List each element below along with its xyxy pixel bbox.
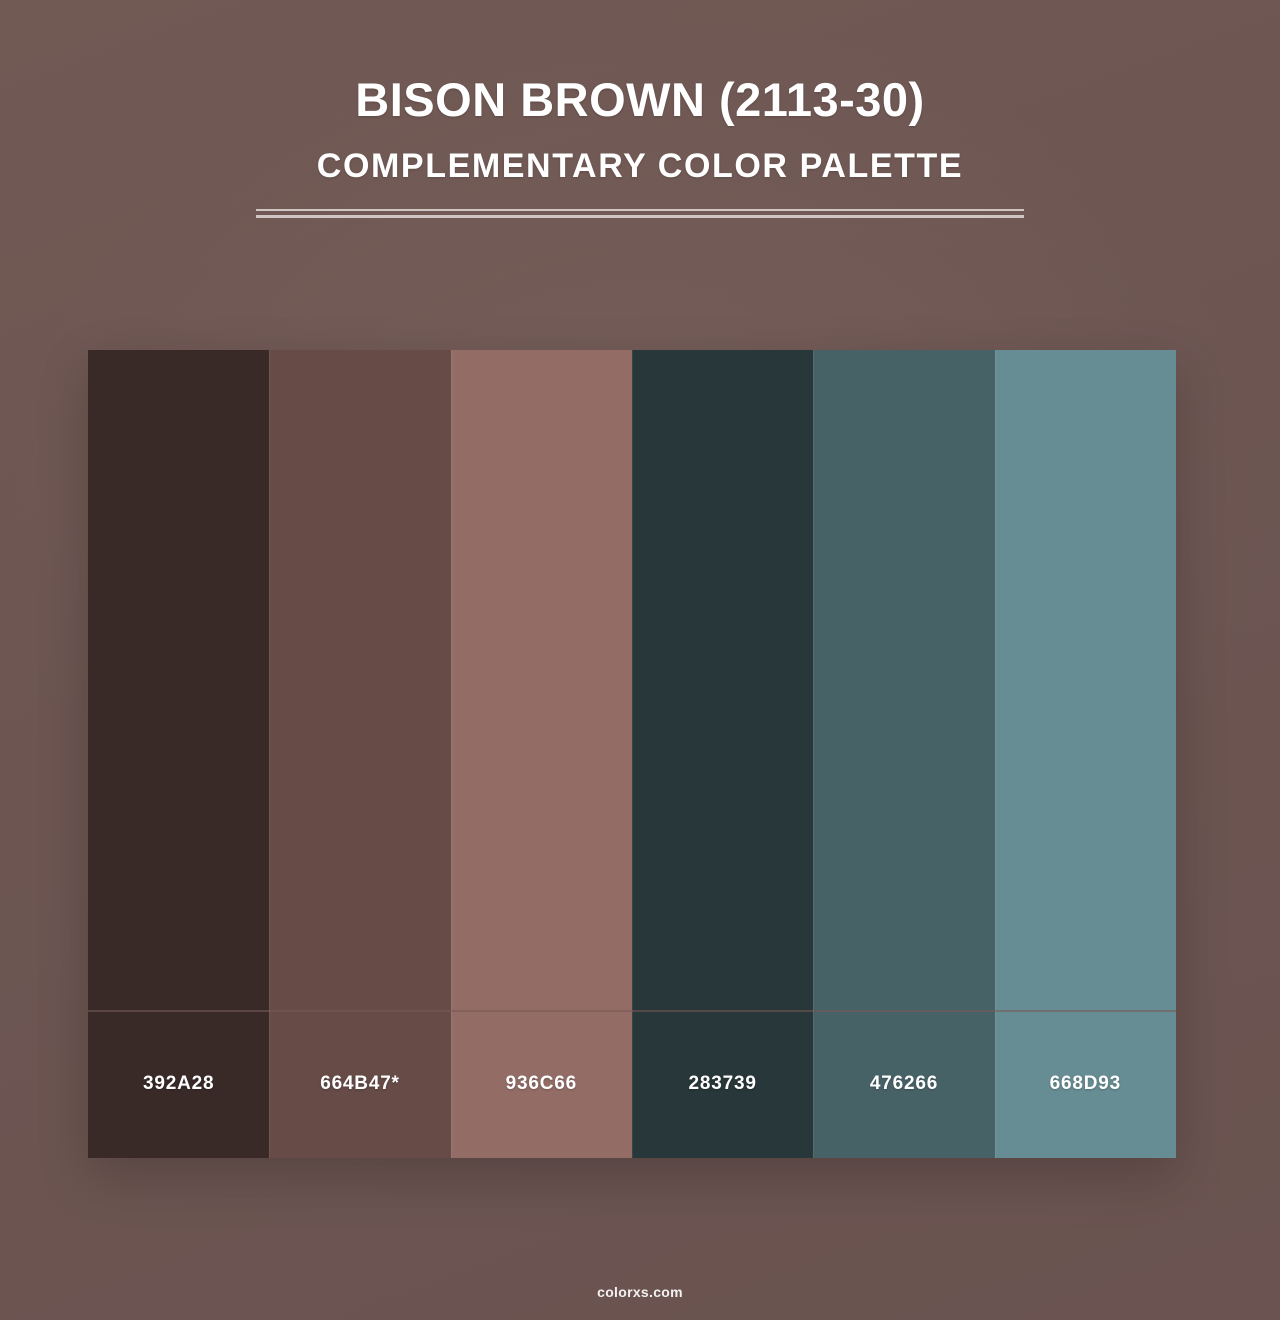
page-title: BISON BROWN (2113-30): [0, 74, 1280, 127]
color-swatch[interactable]: 476266: [813, 350, 994, 1158]
page-header: BISON BROWN (2113-30) COMPLEMENTARY COLO…: [0, 0, 1280, 218]
swatch-hex-label: 392A28: [143, 1073, 214, 1095]
swatch-color-area[interactable]: [813, 350, 994, 1010]
page-footer: colorxs.com: [0, 1284, 1280, 1302]
swatch-hex-label: 283739: [689, 1073, 757, 1095]
site-credit: colorxs.com: [597, 1284, 683, 1300]
divider-line-top: [256, 209, 1024, 211]
swatch-label-area: 936C66: [451, 1010, 632, 1158]
swatch-label-area: 476266: [813, 1010, 994, 1158]
swatch-label-area: 664B47*: [269, 1010, 450, 1158]
page-subtitle: COMPLEMENTARY COLOR PALETTE: [0, 147, 1280, 185]
swatch-color-area[interactable]: [88, 350, 269, 1010]
color-swatch[interactable]: 936C66: [451, 350, 632, 1158]
swatch-label-area: 668D93: [995, 1010, 1176, 1158]
swatch-color-area[interactable]: [632, 350, 813, 1010]
swatch-hex-label: 668D93: [1050, 1073, 1121, 1095]
color-swatch[interactable]: 392A28: [88, 350, 269, 1158]
swatch-color-area[interactable]: [995, 350, 1176, 1010]
swatch-label-area: 392A28: [88, 1010, 269, 1158]
swatch-label-area: 283739: [632, 1010, 813, 1158]
color-swatch[interactable]: 664B47*: [269, 350, 450, 1158]
swatch-color-area[interactable]: [269, 350, 450, 1010]
swatch-color-area[interactable]: [451, 350, 632, 1010]
swatch-hex-label: 936C66: [506, 1073, 577, 1095]
color-swatch[interactable]: 283739: [632, 350, 813, 1158]
header-divider: [256, 209, 1024, 218]
color-palette-strip: 392A28 664B47* 936C66 283739 476266: [88, 350, 1176, 1158]
palette-page: BISON BROWN (2113-30) COMPLEMENTARY COLO…: [0, 0, 1280, 1320]
swatch-hex-label: 664B47*: [320, 1073, 400, 1095]
divider-line-bottom: [256, 215, 1024, 218]
color-swatch[interactable]: 668D93: [995, 350, 1176, 1158]
swatch-hex-label: 476266: [870, 1073, 938, 1095]
divider-container: [0, 209, 1280, 218]
